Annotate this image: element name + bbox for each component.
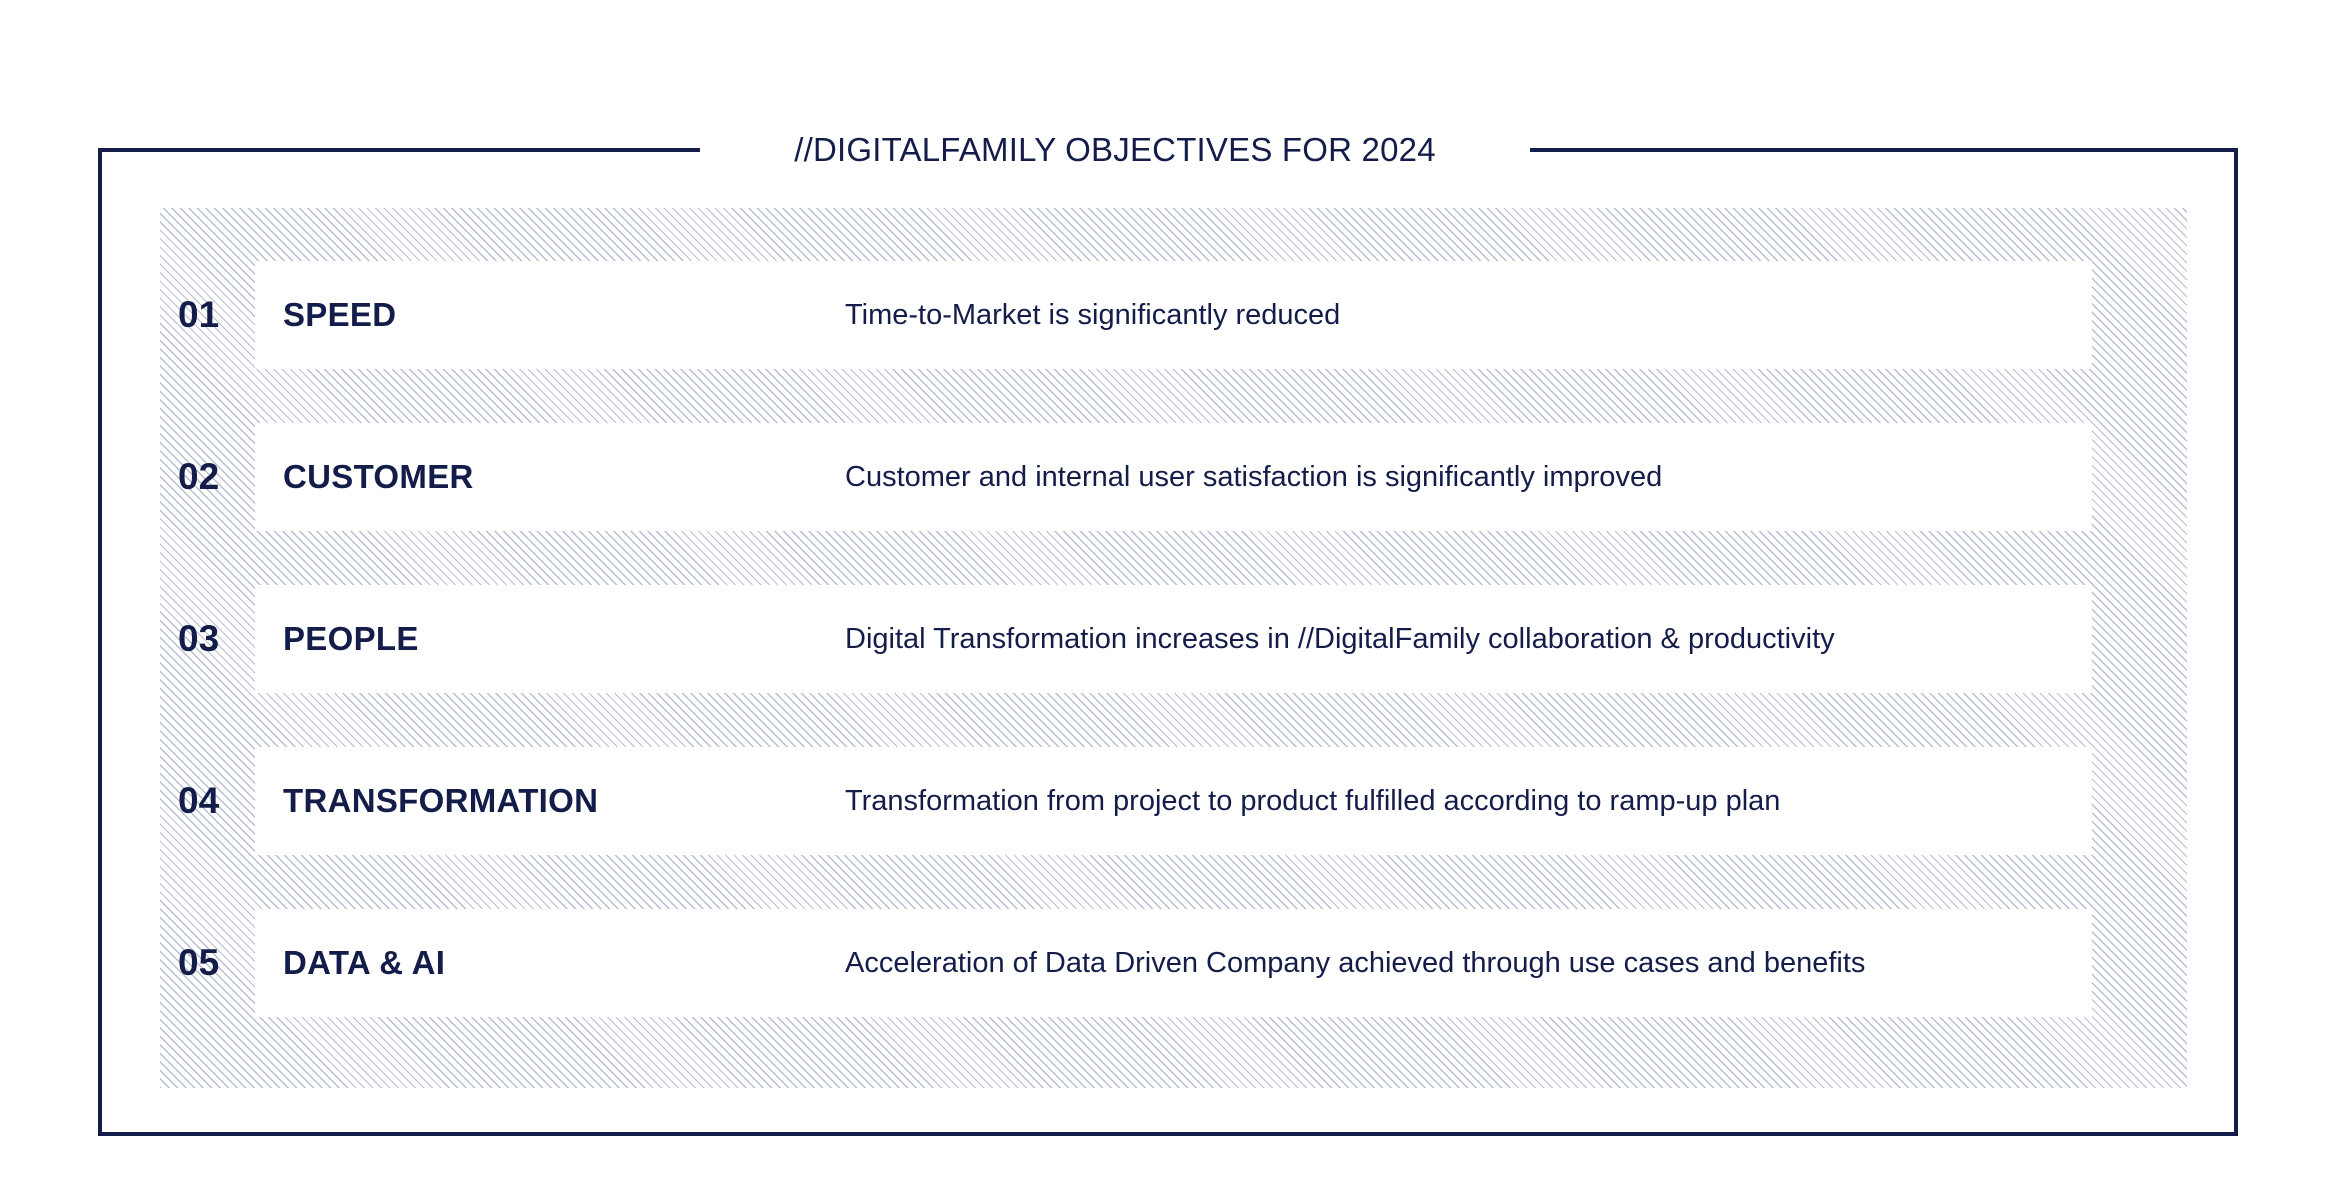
objective-description: Acceleration of Data Driven Company achi… bbox=[845, 909, 2085, 1017]
objective-row[interactable]: 05 DATA & AI Acceleration of Data Driven… bbox=[160, 909, 2187, 1017]
objective-label: DATA & AI bbox=[283, 909, 823, 1017]
objective-number: 01 bbox=[178, 261, 248, 369]
objectives-list: 01 SPEED Time-to-Market is significantly… bbox=[160, 208, 2187, 1088]
slide-canvas: //DIGITALFAMILY OBJECTIVES FOR 2024 01 S… bbox=[0, 0, 2339, 1200]
objective-description: Transformation from project to product f… bbox=[845, 747, 2085, 855]
objective-row[interactable]: 04 TRANSFORMATION Transformation from pr… bbox=[160, 747, 2187, 855]
objective-number: 05 bbox=[178, 909, 248, 1017]
objective-number: 02 bbox=[178, 423, 248, 531]
objective-label: CUSTOMER bbox=[283, 423, 823, 531]
page-title: //DIGITALFAMILY OBJECTIVES FOR 2024 bbox=[700, 129, 1530, 171]
objective-description: Time-to-Market is significantly reduced bbox=[845, 261, 2085, 369]
objective-description: Digital Transformation increases in //Di… bbox=[845, 585, 2085, 693]
objective-row[interactable]: 03 PEOPLE Digital Transformation increas… bbox=[160, 585, 2187, 693]
hatched-background-panel: 01 SPEED Time-to-Market is significantly… bbox=[160, 208, 2187, 1088]
objective-description: Customer and internal user satisfaction … bbox=[845, 423, 2085, 531]
objective-number: 03 bbox=[178, 585, 248, 693]
objective-row[interactable]: 02 CUSTOMER Customer and internal user s… bbox=[160, 423, 2187, 531]
objective-row[interactable]: 01 SPEED Time-to-Market is significantly… bbox=[160, 261, 2187, 369]
objective-label: TRANSFORMATION bbox=[283, 747, 823, 855]
objective-number: 04 bbox=[178, 747, 248, 855]
objective-label: SPEED bbox=[283, 261, 823, 369]
objective-label: PEOPLE bbox=[283, 585, 823, 693]
